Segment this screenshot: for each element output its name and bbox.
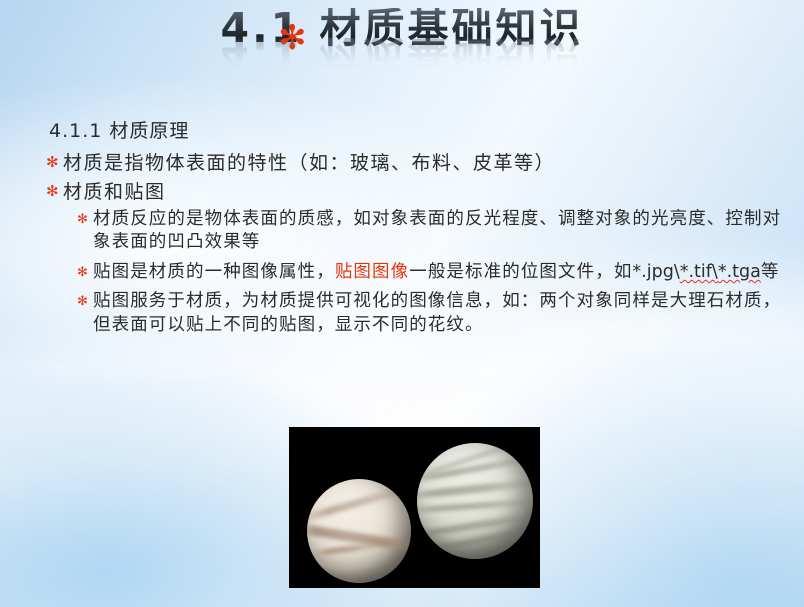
marble-vein xyxy=(309,541,388,557)
bullet-item-5: ✻ 贴图服务于材质，为材质提供可视化的图像信息，如：两个对象同样是大理石材质，但… xyxy=(77,290,786,337)
marble-vein xyxy=(417,498,533,515)
segment-normal: 贴图是材质的一种图像属性， xyxy=(93,262,335,282)
slide-title-reflection: 4.1 材质基础知识 xyxy=(0,35,804,76)
bullet-asterisk-icon: ✻ xyxy=(77,208,93,226)
bullet-text-rich: 贴图是材质的一种图像属性，贴图图像一般是标准的位图文件，如*.jpg\*.tif… xyxy=(93,261,779,285)
bullet-text: 材质反应的是物体表面的质感，如对象表面的反光程度、调整对象的光亮度、控制对象表面… xyxy=(93,208,786,255)
title-asterisk-icon: ✻ xyxy=(278,21,307,55)
bullet-asterisk-icon: ✻ xyxy=(46,178,63,199)
marble-vein xyxy=(417,510,533,541)
section-heading: 4.1.1 材质原理 xyxy=(49,118,786,146)
slide-picture-marble-spheres xyxy=(289,427,540,588)
bullet-item-4: ✻ 贴图是材质的一种图像属性，贴图图像一般是标准的位图文件，如*.jpg\*.t… xyxy=(77,261,786,285)
segment-filetype-tga: *.tga xyxy=(718,262,761,282)
marble-sphere-cream xyxy=(307,479,411,583)
marble-vein xyxy=(417,477,533,501)
segment-highlight: 贴图图像 xyxy=(335,262,409,282)
bullet-text: 材质是指物体表面的特性（如：玻璃、布料、皮革等） xyxy=(63,149,555,178)
bullet-item-2: ✻ 材质和贴图 xyxy=(46,178,786,207)
segment-filetype-tif: *.tif\ xyxy=(680,262,718,282)
slide-title: 4.1 材质基础知识 xyxy=(221,8,584,49)
bullet-asterisk-icon: ✻ xyxy=(77,290,93,308)
bullet-asterisk-icon: ✻ xyxy=(77,261,93,279)
slide-canvas: 4.1 材质基础知识 ✻ 4.1 材质基础知识 4.1.1 材质原理 ✻ 材质是… xyxy=(0,0,804,607)
marble-veins-cream xyxy=(307,479,411,583)
marble-sphere-greenwhite xyxy=(417,443,533,559)
bullet-text: 贴图服务于材质，为材质提供可视化的图像信息，如：两个对象同样是大理石材质，但表面… xyxy=(93,290,786,337)
marble-veins-greenwhite xyxy=(417,443,533,559)
segment-normal: 等 xyxy=(761,262,780,282)
bullet-item-3: ✻ 材质反应的是物体表面的质感，如对象表面的反光程度、调整对象的光亮度、控制对象… xyxy=(77,208,786,255)
segment-normal: 一般是标准的位图文件，如 xyxy=(409,262,632,282)
segment-filetype-jpg: *.jpg\ xyxy=(632,262,679,282)
slide-title-block: 4.1 材质基础知识 ✻ 4.1 材质基础知识 xyxy=(0,8,804,108)
bullet-item-1: ✻ 材质是指物体表面的特性（如：玻璃、布料、皮革等） xyxy=(46,149,786,178)
bullet-asterisk-icon: ✻ xyxy=(46,149,63,170)
bullet-text: 材质和贴图 xyxy=(63,178,166,207)
slide-body: 4.1.1 材质原理 ✻ 材质是指物体表面的特性（如：玻璃、布料、皮革等） ✻ … xyxy=(46,118,786,344)
